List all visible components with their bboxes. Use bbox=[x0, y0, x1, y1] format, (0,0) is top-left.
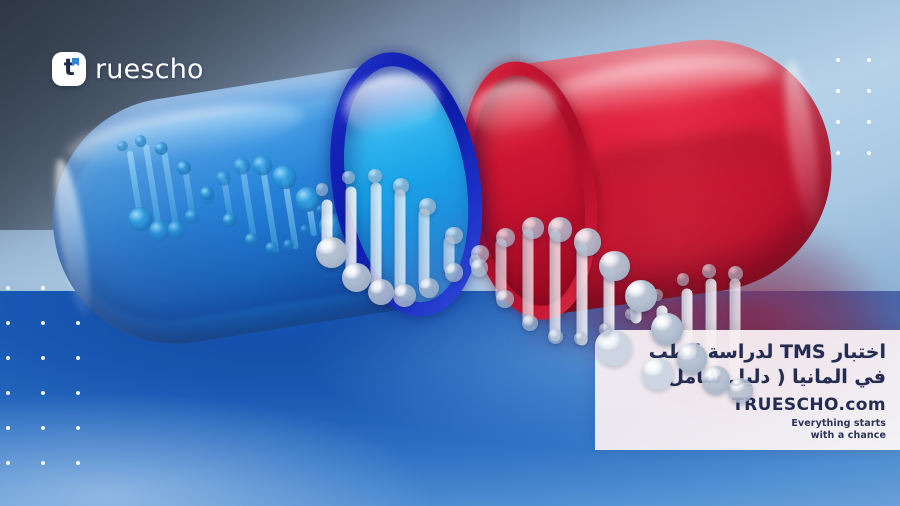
decor-dot bbox=[6, 286, 10, 290]
helix-bead bbox=[574, 228, 602, 256]
helix-bead-overlap-2 bbox=[642, 358, 674, 390]
inner-helix-bead bbox=[251, 154, 274, 177]
helix-bead bbox=[471, 259, 489, 277]
helix-bead bbox=[702, 264, 716, 278]
helix-bead bbox=[702, 366, 730, 394]
helix-bead bbox=[599, 251, 629, 281]
white-dna-double-helix bbox=[300, 176, 770, 406]
decor-dot bbox=[867, 151, 871, 155]
image-canvas: t ruescho اختبار TMS لدراسة الطب في الما… bbox=[0, 0, 900, 506]
helix-bead bbox=[316, 183, 328, 195]
inner-helix-bead bbox=[271, 164, 298, 191]
helix-bead bbox=[368, 169, 383, 184]
decor-dot bbox=[41, 426, 45, 430]
panel-tagline-line-1: Everything starts bbox=[791, 418, 886, 430]
decor-dot bbox=[6, 391, 10, 395]
decor-dot bbox=[76, 391, 80, 395]
decor-dot bbox=[867, 58, 871, 62]
decor-dot bbox=[836, 151, 840, 155]
helix-bead bbox=[548, 217, 573, 242]
decor-dot bbox=[867, 120, 871, 124]
inner-helix-bead bbox=[215, 170, 232, 187]
helix-rung bbox=[419, 209, 430, 289]
helix-rung bbox=[577, 243, 588, 346]
helix-bead bbox=[651, 313, 683, 345]
decor-dot bbox=[41, 286, 45, 290]
helix-bead bbox=[599, 323, 612, 336]
helix-bead bbox=[677, 273, 690, 286]
helix-bead bbox=[625, 280, 657, 312]
inner-helix-bead bbox=[116, 140, 128, 152]
inner-helix-bead bbox=[222, 212, 238, 228]
decor-dot bbox=[6, 426, 10, 430]
helix-bead bbox=[419, 198, 436, 215]
inner-helix-bead bbox=[184, 208, 201, 225]
panel-domain: TRUESCHO.com bbox=[732, 395, 886, 415]
decor-dot bbox=[41, 356, 45, 360]
decor-dot bbox=[41, 461, 45, 465]
decor-dot bbox=[836, 58, 840, 62]
panel-tagline: Everything starts with a chance bbox=[791, 418, 886, 442]
helix-bead bbox=[522, 315, 538, 331]
helix-rung bbox=[394, 190, 405, 297]
brand-logo[interactable]: t ruescho bbox=[52, 52, 204, 86]
helix-bead bbox=[342, 171, 355, 184]
dot-grid-top-right bbox=[836, 58, 900, 168]
inner-helix-rung bbox=[161, 150, 179, 230]
decor-dot bbox=[76, 426, 80, 430]
helix-rung bbox=[550, 230, 561, 342]
decor-dot bbox=[41, 321, 45, 325]
inner-helix-bead bbox=[264, 242, 278, 256]
helix-bead bbox=[445, 227, 463, 245]
inner-helix-bead bbox=[167, 219, 187, 239]
helix-bead bbox=[393, 178, 409, 194]
inner-helix-bead bbox=[244, 232, 259, 247]
helix-bead bbox=[419, 278, 439, 298]
brand-logo-wordmark: ruescho bbox=[95, 54, 204, 85]
decor-dot bbox=[836, 89, 840, 93]
decor-dot bbox=[867, 89, 871, 93]
helix-bead bbox=[548, 329, 563, 344]
helix-bead bbox=[342, 263, 371, 292]
helix-bead bbox=[445, 263, 463, 281]
inner-helix-rung bbox=[239, 165, 257, 242]
helix-bead bbox=[316, 237, 347, 268]
helix-bead bbox=[522, 217, 544, 239]
decor-dot bbox=[836, 120, 840, 124]
helix-rung bbox=[370, 182, 381, 293]
helix-bead bbox=[728, 266, 743, 281]
helix-bead-overlap-1 bbox=[596, 330, 632, 366]
decor-dot bbox=[6, 461, 10, 465]
bookmark-flag-icon bbox=[72, 58, 79, 66]
helix-bead bbox=[393, 284, 416, 307]
helix-bead bbox=[677, 343, 707, 373]
helix-bead bbox=[728, 378, 753, 403]
decor-dot bbox=[41, 391, 45, 395]
helix-bead bbox=[496, 290, 513, 307]
decor-dot bbox=[6, 321, 10, 325]
helix-rung bbox=[522, 229, 533, 326]
inner-helix-bead bbox=[232, 156, 252, 176]
truescho-t-mark-icon: t bbox=[52, 52, 86, 86]
helix-bead bbox=[368, 279, 394, 305]
decor-dot bbox=[76, 461, 80, 465]
helix-bead bbox=[496, 228, 515, 247]
inner-helix-bead bbox=[176, 160, 192, 176]
decor-dot bbox=[6, 356, 10, 360]
panel-tagline-line-2: with a chance bbox=[791, 430, 886, 442]
